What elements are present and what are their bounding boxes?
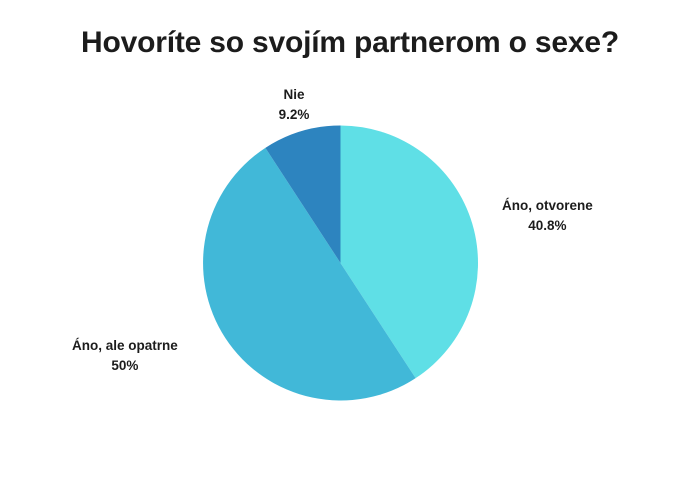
pie-slice-group — [203, 126, 478, 401]
pie-slice-label-percent: 40.8% — [502, 216, 593, 236]
pie-slice-label-ano-ale-opatrne: Áno, ale opatrne 50% — [72, 336, 178, 375]
pie-slice-label-percent: 9.2% — [262, 105, 326, 125]
pie-slice-label-percent: 50% — [72, 356, 178, 376]
pie-chart-canvas — [0, 0, 700, 500]
pie-slice-label-name: Áno, otvorene — [502, 196, 593, 216]
pie-slice-label-nie: Nie 9.2% — [262, 85, 326, 124]
pie-slice-label-ano-otvorene: Áno, otvorene 40.8% — [502, 196, 593, 235]
pie-slice-label-name: Nie — [262, 85, 326, 105]
pie-chart-figure: Hovoríte so svojím partnerom o sexe? Áno… — [0, 0, 700, 500]
pie-slice-label-name: Áno, ale opatrne — [72, 336, 178, 356]
